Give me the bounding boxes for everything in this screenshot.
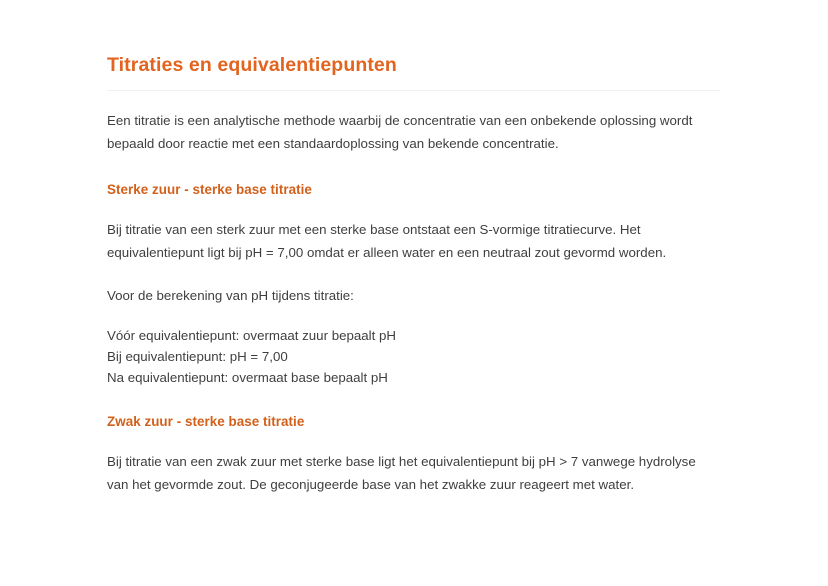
section-paragraph-weak-acid-strong-base: Bij titratie van een zwak zuur met sterk…	[107, 451, 720, 497]
section-heading-strong-acid-strong-base: Sterke zuur - sterke base titratie	[107, 180, 720, 200]
calculation-line: Vóór equivalentiepunt: overmaat zuur bep…	[107, 325, 720, 346]
calculation-list: Vóór equivalentiepunt: overmaat zuur bep…	[107, 325, 720, 388]
document-content: Titraties en equivalentiepunten Een titr…	[107, 52, 720, 497]
calculation-line: Bij equivalentiepunt: pH = 7,00	[107, 346, 720, 367]
section-heading-weak-acid-strong-base: Zwak zuur - sterke base titratie	[107, 412, 720, 432]
document-page: Titraties en equivalentiepunten Een titr…	[0, 0, 828, 586]
calculation-lead-in: Voor de berekening van pH tijdens titrat…	[107, 285, 720, 308]
title-divider	[107, 90, 720, 91]
calculation-line: Na equivalentiepunt: overmaat base bepaa…	[107, 367, 720, 388]
section-paragraph-strong-acid-strong-base: Bij titratie van een sterk zuur met een …	[107, 219, 720, 265]
page-title: Titraties en equivalentiepunten	[107, 52, 720, 78]
intro-paragraph: Een titratie is een analytische methode …	[107, 110, 720, 156]
